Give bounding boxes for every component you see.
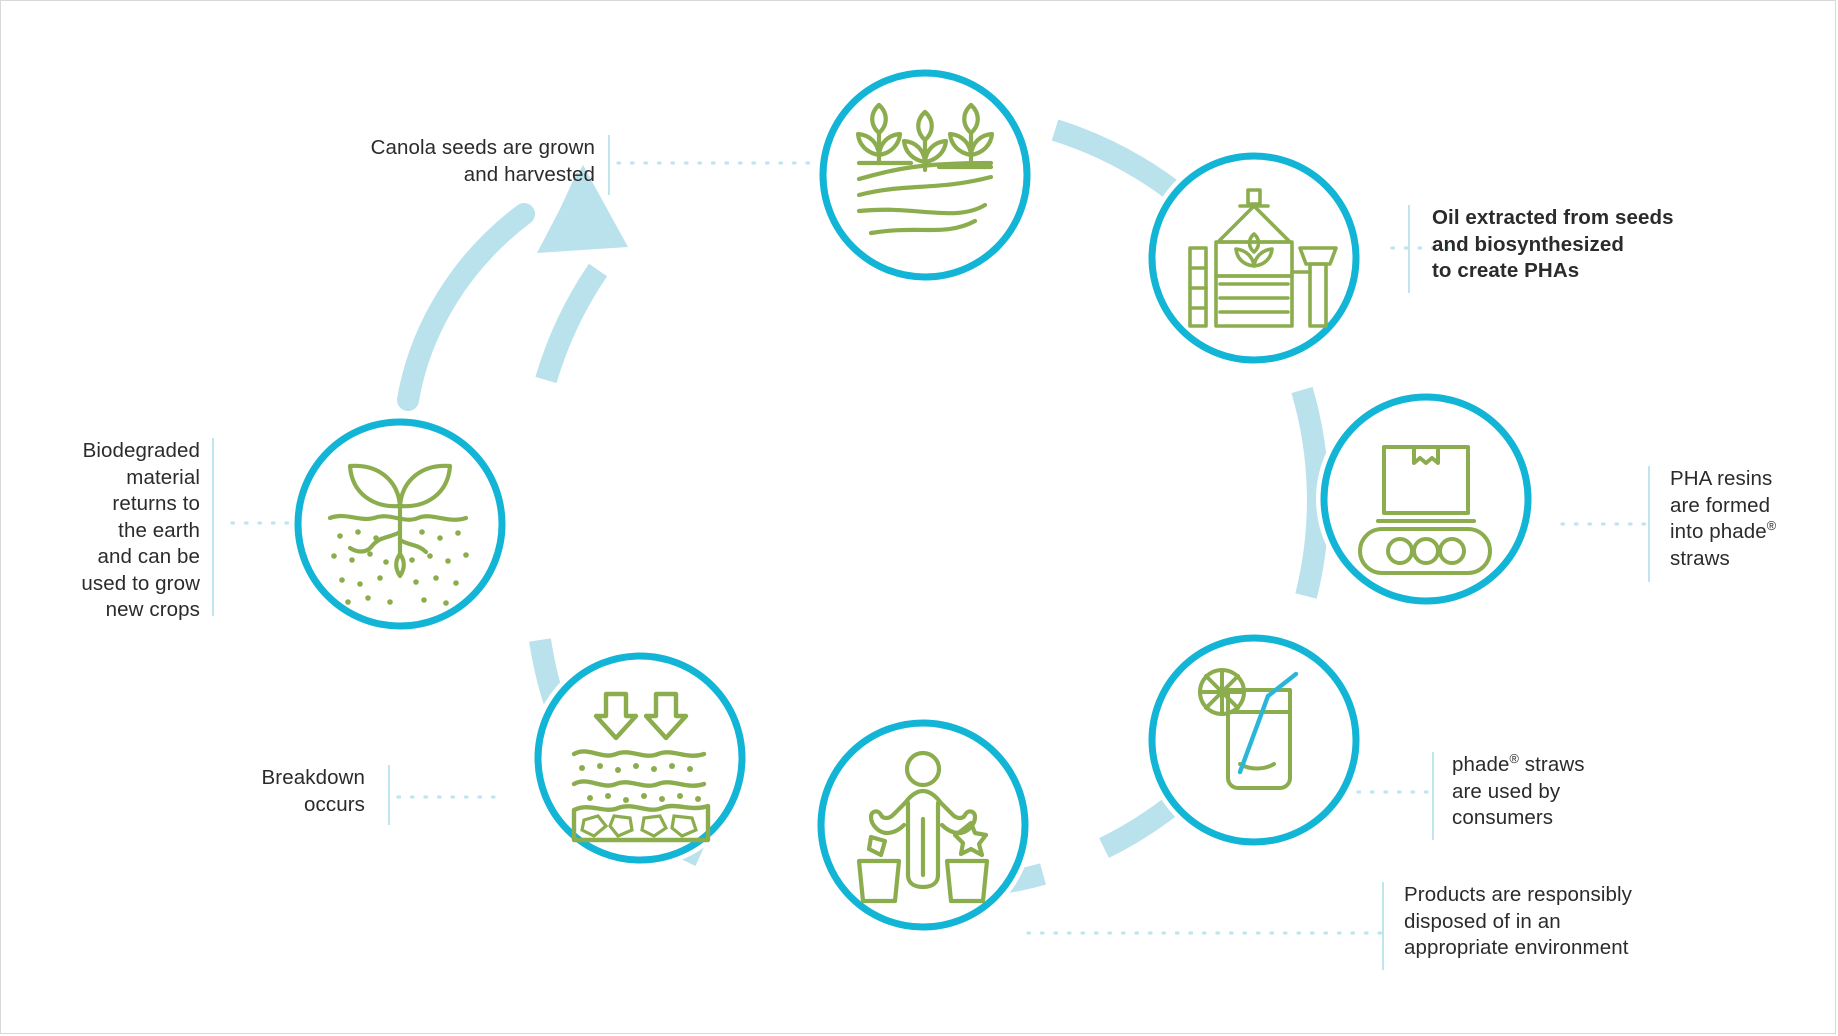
seedling-roots-icon xyxy=(290,414,510,634)
label-rule-canola xyxy=(608,135,610,195)
label-consumers: phade® straws are used by consumers xyxy=(1452,752,1672,832)
node-canola[interactable] xyxy=(815,65,1035,285)
node-consumers[interactable] xyxy=(1144,630,1364,850)
label-rule-oil xyxy=(1408,205,1410,293)
node-biodegraded[interactable] xyxy=(290,414,510,634)
biorefinery-icon xyxy=(1144,148,1364,368)
soil-layers-arrows-icon xyxy=(530,648,750,868)
conveyor-box-icon xyxy=(1316,389,1536,609)
label-rule-resins xyxy=(1648,466,1650,582)
canola-field-icon xyxy=(815,65,1035,285)
label-resins: PHA resins are formed into phade® straws xyxy=(1670,466,1838,572)
label-breakdown: Breakdown occurs xyxy=(170,765,365,818)
person-waste-bins-icon xyxy=(813,715,1033,935)
label-oil: Oil extracted from seeds and biosynthesi… xyxy=(1432,205,1762,285)
node-oil[interactable] xyxy=(1144,148,1364,368)
label-biodegraded: Biodegraded material returns to the eart… xyxy=(10,438,200,624)
drink-straw-icon xyxy=(1144,630,1364,850)
node-resins[interactable] xyxy=(1316,389,1536,609)
label-rule-consumers xyxy=(1432,752,1434,840)
label-rule-disposal xyxy=(1382,882,1384,970)
node-breakdown[interactable] xyxy=(530,648,750,868)
lifecycle-diagram: Canola seeds are grown and harvested Oil… xyxy=(0,0,1838,1036)
label-rule-biodegraded xyxy=(212,438,214,616)
label-rule-breakdown xyxy=(388,765,390,825)
label-canola: Canola seeds are grown and harvested xyxy=(280,135,595,188)
node-disposal[interactable] xyxy=(813,715,1033,935)
label-disposal: Products are responsibly disposed of in … xyxy=(1404,882,1714,962)
